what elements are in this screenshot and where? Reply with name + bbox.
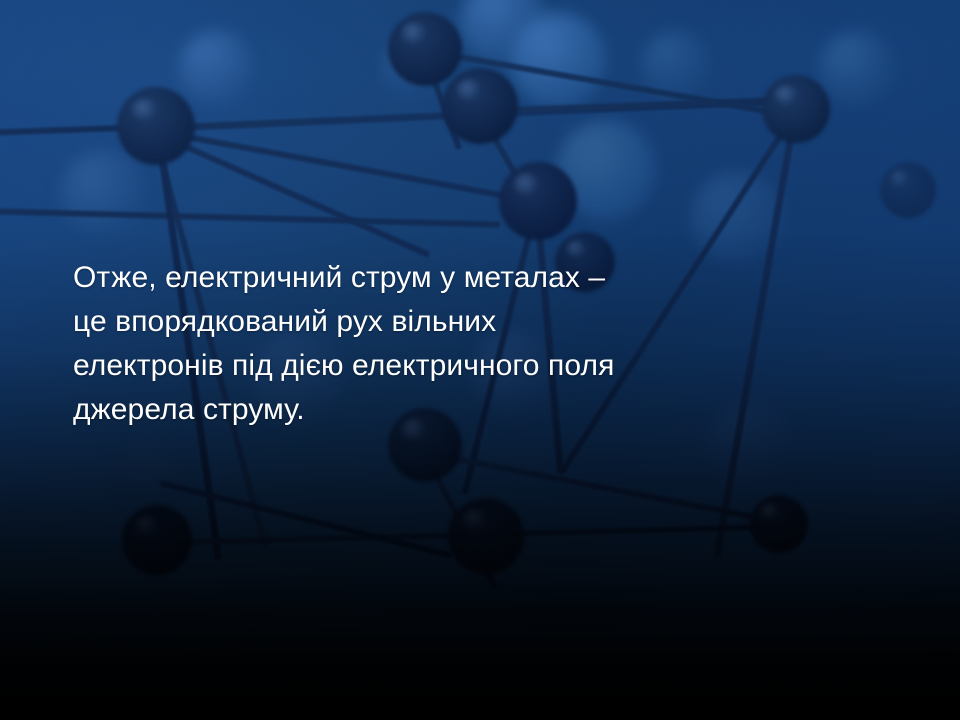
bond-rod (424, 450, 798, 528)
atom-sphere (750, 495, 808, 553)
ghost-sphere (690, 170, 784, 264)
ghost-sphere (178, 30, 254, 106)
slide-body-text: Отже, електричний струм у металах – це в… (73, 256, 733, 432)
bond-rod (477, 112, 542, 219)
atom-sphere (762, 75, 830, 143)
bond-rod (0, 123, 180, 136)
ghost-sphere (510, 12, 606, 108)
atom-sphere (122, 505, 192, 575)
bond-rod (160, 524, 780, 546)
ghost-sphere (640, 30, 710, 100)
ghost-sphere (60, 150, 146, 236)
ghost-sphere (380, 36, 446, 102)
bond-rod (154, 130, 431, 258)
bond-rod (424, 48, 789, 118)
bond-rod (480, 96, 810, 114)
atom-sphere (442, 68, 518, 144)
bond-rod (422, 454, 498, 589)
atom-sphere (499, 162, 577, 240)
bond-rod (159, 480, 452, 558)
atom-sphere (880, 162, 936, 218)
atom-sphere (448, 498, 524, 574)
ghost-sphere (818, 30, 894, 106)
ghost-sphere (556, 120, 656, 220)
presentation-slide: Отже, електричний струм у металах – це в… (0, 0, 960, 720)
atom-sphere (117, 87, 195, 165)
ghost-sphere (112, 430, 196, 514)
bond-rod (154, 128, 558, 209)
ghost-sphere (460, 0, 546, 64)
atom-sphere (388, 12, 462, 86)
bond-rod (0, 208, 500, 228)
bond-rod (155, 97, 805, 132)
bond-rod (422, 54, 462, 150)
